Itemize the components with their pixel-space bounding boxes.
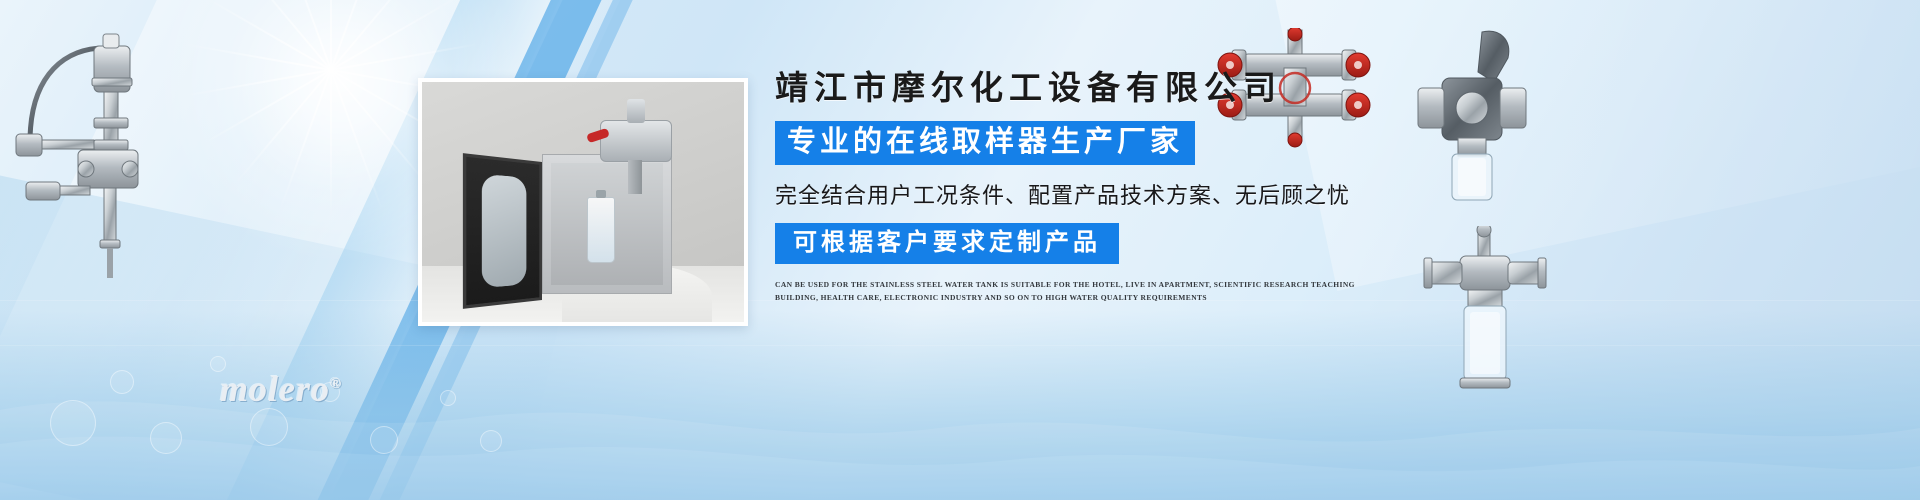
photo-valve-stem (628, 160, 642, 194)
company-name: 靖江市摩尔化工设备有限公司 (775, 70, 1415, 110)
banner-text-block: 靖江市摩尔化工设备有限公司 专业的在线取样器生产厂家 完全结合用户工况条件、配置… (775, 70, 1415, 304)
english-description: CAN BE USED FOR THE STAINLESS STEEL WATE… (775, 278, 1375, 304)
brand-logo: molero® (220, 368, 342, 410)
headline-highlight: 专业的在线取样器生产厂家 (775, 121, 1195, 166)
photo-cabinet-door (463, 153, 542, 309)
inline-sight-glass-sampler (1420, 226, 1550, 396)
product-photo (418, 78, 748, 326)
brand-logo-text: molero (220, 369, 330, 409)
registered-trademark-icon: ® (330, 376, 342, 392)
lever-operated-flanged-valve (1408, 26, 1538, 216)
wellhead-sampler-assembly-left (8, 22, 188, 282)
cta-highlight: 可根据客户要求定制产品 (775, 223, 1119, 264)
sub-headline: 完全结合用户工况条件、配置产品技术方案、无后顾之忧 (775, 178, 1415, 210)
photo-valve-head (600, 120, 672, 162)
promo-banner: 靖江市摩尔化工设备有限公司 专业的在线取样器生产厂家 完全结合用户工况条件、配置… (0, 0, 1920, 500)
photo-sample-bottle (587, 197, 615, 263)
photo-sampler-cabinet (542, 154, 672, 294)
photo-door-window (482, 174, 527, 288)
